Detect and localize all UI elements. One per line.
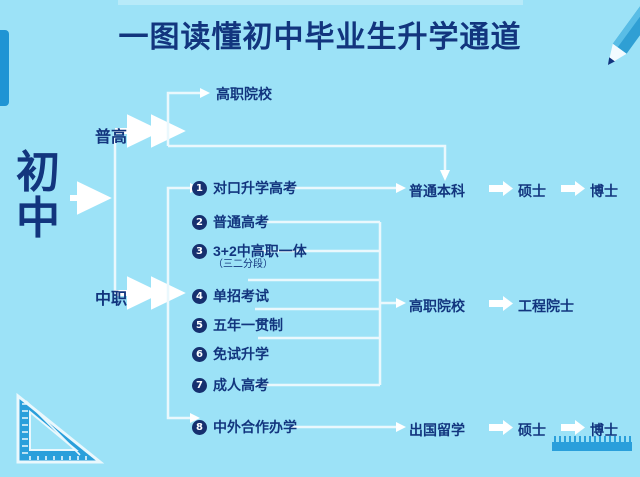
item-number-badge: 6 bbox=[192, 347, 207, 362]
list-item: 5 五年一贯制 bbox=[192, 317, 283, 333]
item-label: 五年一贯制 bbox=[213, 317, 283, 333]
list-item: 4 单招考试 bbox=[192, 288, 269, 304]
item-number-badge: 7 bbox=[192, 378, 207, 393]
root-node-junior-high: 初 中 bbox=[8, 150, 68, 242]
item-body: 五年一贯制 bbox=[213, 317, 283, 333]
node-shuo-shi-1: 硕士 bbox=[518, 181, 546, 201]
top-accent-strip bbox=[118, 0, 523, 5]
infographic-canvas: 一图读懂初中毕业生升学通道 bbox=[0, 0, 640, 477]
item-number-badge: 8 bbox=[192, 420, 207, 435]
root-node-line-2: 中 bbox=[8, 196, 68, 242]
item-label: 对口升学高考 bbox=[213, 180, 297, 196]
item-body: 免试升学 bbox=[213, 346, 269, 362]
item-label: 单招考试 bbox=[213, 288, 269, 304]
item-body: 成人高考 bbox=[213, 377, 269, 393]
node-gong-cheng-yuan-shi: 工程院士 bbox=[518, 296, 574, 316]
node-pu-tong-ben-ke: 普通本科 bbox=[409, 181, 465, 201]
list-item: 3 3+2中高职一体 （三二分段） bbox=[192, 243, 307, 271]
node-chu-guo-liu-xue: 出国留学 bbox=[409, 420, 465, 440]
pencil-icon bbox=[596, 0, 640, 90]
item-label: 中外合作办学 bbox=[213, 419, 297, 435]
item-label: 3+2中高职一体 bbox=[213, 243, 307, 259]
item-number-badge: 5 bbox=[192, 318, 207, 333]
item-body: 普通高考 bbox=[213, 214, 269, 230]
item-label: 普通高考 bbox=[213, 214, 269, 230]
list-item: 2 普通高考 bbox=[192, 214, 269, 230]
ruler-icon bbox=[552, 436, 632, 452]
item-number-badge: 2 bbox=[192, 215, 207, 230]
item-number-badge: 4 bbox=[192, 289, 207, 304]
list-item: 1 对口升学高考 bbox=[192, 180, 297, 196]
list-item: 8 中外合作办学 bbox=[192, 419, 297, 435]
item-sublabel: （三二分段） bbox=[213, 259, 307, 271]
item-number-badge: 3 bbox=[192, 244, 207, 259]
branch-label-zhong-zhi: 中职 bbox=[95, 285, 127, 309]
node-gao-zhi-yuan-xiao: 高职院校 bbox=[409, 296, 465, 316]
root-node-line-1: 初 bbox=[8, 150, 68, 196]
item-body: 单招考试 bbox=[213, 288, 269, 304]
item-label: 成人高考 bbox=[213, 377, 269, 393]
list-item: 7 成人高考 bbox=[192, 377, 269, 393]
item-number-badge: 1 bbox=[192, 181, 207, 196]
node-shuo-shi-2: 硕士 bbox=[518, 420, 546, 440]
item-body: 3+2中高职一体 （三二分段） bbox=[213, 243, 307, 271]
item-body: 中外合作办学 bbox=[213, 419, 297, 435]
list-item: 6 免试升学 bbox=[192, 346, 269, 362]
node-gao-zhi-yuan-xiao-top: 高职院校 bbox=[216, 84, 272, 104]
branch-label-pu-gao: 普高 bbox=[95, 123, 127, 147]
page-title: 一图读懂初中毕业生升学通道 bbox=[0, 12, 640, 56]
item-label: 免试升学 bbox=[213, 346, 269, 362]
item-body: 对口升学高考 bbox=[213, 180, 297, 196]
node-bo-shi-1: 博士 bbox=[590, 181, 618, 201]
set-square-ruler-icon bbox=[8, 390, 112, 470]
